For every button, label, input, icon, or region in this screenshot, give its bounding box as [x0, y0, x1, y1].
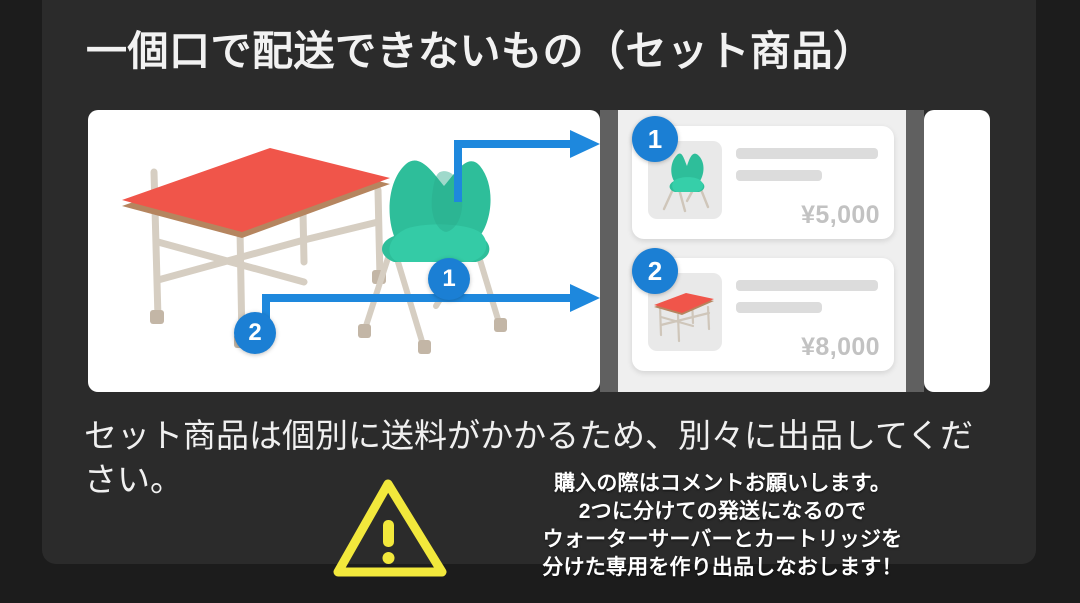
panel-divider-right — [906, 110, 924, 392]
title-placeholder-bar — [736, 280, 878, 291]
blank-panel — [924, 110, 990, 392]
listing-price: ¥8,000 — [801, 333, 880, 362]
listing-price: ¥5,000 — [801, 201, 880, 230]
screenshot-root: 一個口で配送できないもの（セット商品） — [0, 0, 1080, 603]
illustration-card: 1 2 — [88, 110, 600, 392]
annotation-line-2: 2つに分けての発送になるので — [430, 498, 1015, 526]
page-title: 一個口で配送できないもの（セット商品） — [86, 27, 986, 76]
listing-badge-2: 2 — [632, 248, 678, 294]
listing-badge-1: 1 — [632, 116, 678, 162]
table-chair-illustration — [88, 110, 600, 392]
annotation-line-1: 購入の際はコメントお願いします。 — [430, 470, 1015, 498]
illustration-marker-2: 2 — [234, 312, 276, 354]
subtitle-placeholder-bar — [736, 170, 822, 181]
illustration-marker-1: 1 — [428, 258, 470, 300]
media-row: 1 2 — [88, 110, 990, 392]
listing-cards-panel: ¥5,000 — [618, 110, 906, 392]
annotation-line-3: ウォーターサーバーとカートリッジを — [430, 526, 1015, 554]
annotation-line-4: 分けた専用を作り出品しなおします！ — [430, 554, 1015, 582]
title-placeholder-bar — [736, 148, 878, 159]
subtitle-placeholder-bar — [736, 302, 822, 313]
panel-divider-left — [600, 110, 618, 392]
annotation-text: 購入の際はコメントお願いします。 2つに分けての発送になるので ウォーターサーバ… — [430, 470, 1015, 582]
